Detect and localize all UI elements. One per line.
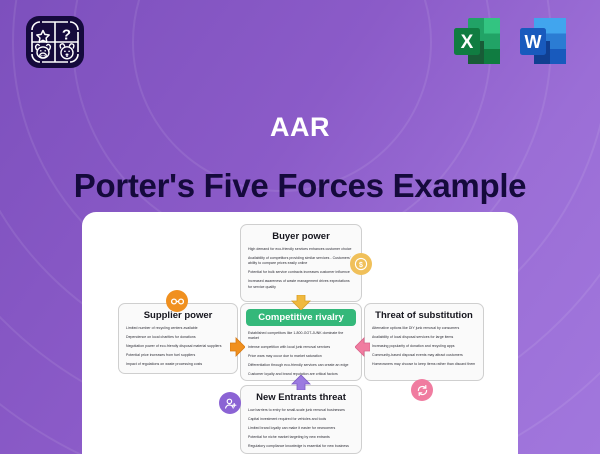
- arrow-entrants-to-rivalry-icon: [290, 375, 312, 395]
- arrow-buyer-to-rivalry-icon: [290, 295, 312, 315]
- force-box-threat-of-substitution[interactable]: Threat of substitution Alternative optio…: [364, 303, 484, 381]
- list-item: Potential price increases from fuel supp…: [126, 353, 230, 358]
- list-item: Capital investment required for vehicles…: [248, 417, 354, 422]
- force-box-new-entrants-threat[interactable]: New Entrants threat Low barriers to entr…: [240, 385, 362, 454]
- list-item: Low barriers to entry for small-scale ju…: [248, 408, 354, 413]
- list-item: Increasing popularity of donation and re…: [372, 344, 476, 349]
- list-item: Homeowners may choose to keep items rath…: [372, 362, 476, 367]
- svg-text:?: ?: [62, 27, 71, 44]
- force-list-buyer-power: High demand for eco-friendly services en…: [248, 247, 354, 290]
- list-item: Increased awareness of waste management …: [248, 279, 354, 290]
- list-item: Alternative options like DIY junk remova…: [372, 326, 476, 331]
- list-item: Negotiation power of eco-friendly dispos…: [126, 344, 230, 349]
- force-box-supplier-power[interactable]: Supplier power Limited number of recycli…: [118, 303, 238, 374]
- list-item: Established competitors like 1-800-GOT-J…: [248, 331, 354, 342]
- badge-buyer-icon: $: [350, 253, 372, 275]
- arrow-supplier-to-rivalry-icon: [230, 336, 245, 363]
- excel-letter: X: [461, 32, 474, 53]
- force-title-threat-of-substitution: Threat of substitution: [372, 310, 476, 321]
- word-icon[interactable]: W: [516, 14, 570, 68]
- list-item: Community-based disposal events may attr…: [372, 353, 476, 358]
- list-item: Dependence on local charities for donati…: [126, 335, 230, 340]
- force-list-supplier-power: Limited number of recycling centers avai…: [126, 326, 230, 367]
- list-item: Availability of competitors providing si…: [248, 256, 354, 267]
- pets-grid-icon[interactable]: ?: [24, 14, 86, 70]
- svg-text:$: $: [359, 262, 363, 269]
- force-list-competitive-rivalry: Established competitors like 1-800-GOT-J…: [248, 331, 354, 378]
- badge-substitution-icon: [411, 379, 433, 401]
- list-item: Intense competition with local junk remo…: [248, 345, 354, 350]
- list-item: Regulatory compliance knowledge is essen…: [248, 444, 354, 449]
- list-item: Limited number of recycling centers avai…: [126, 326, 230, 331]
- decorative-arc: [132, 0, 432, 192]
- brand-label: AAR: [0, 112, 600, 143]
- page-title: Porter's Five Forces Example: [0, 167, 600, 205]
- badge-entrants-icon: [219, 392, 241, 414]
- word-letter: W: [525, 32, 542, 52]
- force-title-buyer-power: Buyer power: [248, 231, 354, 242]
- force-box-buyer-power[interactable]: Buyer power High demand for eco-friendly…: [240, 224, 362, 302]
- list-item: Potential for niche market targeting by …: [248, 435, 354, 440]
- slide-canvas: ?: [0, 0, 600, 454]
- force-list-threat-of-substitution: Alternative options like DIY junk remova…: [372, 326, 476, 367]
- list-item: Potential for bulk service contracts inc…: [248, 270, 354, 275]
- list-item: Impact of regulations on waste processin…: [126, 362, 230, 367]
- list-item: Availability of local disposal services …: [372, 335, 476, 340]
- excel-icon[interactable]: X: [450, 14, 504, 68]
- list-item: High demand for eco-friendly services en…: [248, 247, 354, 252]
- list-item: Price wars may occur due to market satur…: [248, 354, 354, 359]
- arrow-substitution-to-rivalry-icon: [355, 336, 370, 363]
- list-item: Limited brand loyalty can make it easier…: [248, 426, 354, 431]
- badge-supplier-icon: [166, 290, 188, 312]
- list-item: Differentiation through eco-friendly ser…: [248, 363, 354, 368]
- force-list-new-entrants-threat: Low barriers to entry for small-scale ju…: [248, 408, 354, 449]
